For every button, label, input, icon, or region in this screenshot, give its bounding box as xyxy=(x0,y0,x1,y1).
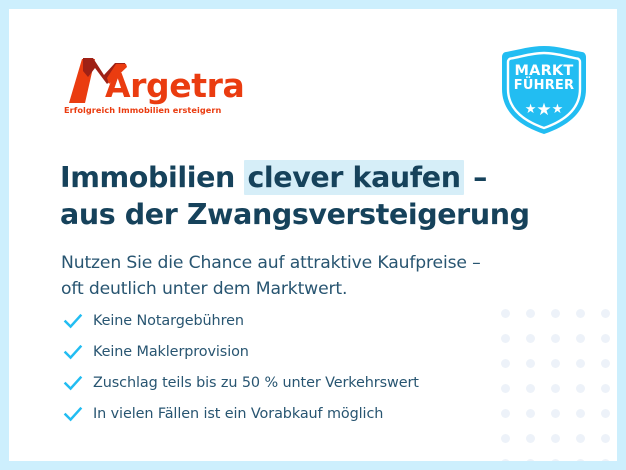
dot xyxy=(576,459,585,461)
check-icon xyxy=(62,403,84,425)
badge-stars: ★★★ xyxy=(496,101,592,118)
shield-icon xyxy=(496,44,592,136)
dot xyxy=(551,459,560,461)
dot xyxy=(601,409,610,418)
list-item: Zuschlag teils bis zu 50 % unter Verkehr… xyxy=(62,367,532,398)
dot xyxy=(601,359,610,368)
check-icon xyxy=(62,372,84,394)
subheadline: Nutzen Sie die Chance auf attraktive Kau… xyxy=(61,250,551,302)
dot xyxy=(551,384,560,393)
headline: Immobilien clever kaufen – aus der Zwang… xyxy=(60,160,530,233)
headline-line-2: aus der Zwangsversteigerung xyxy=(60,197,530,233)
market-leader-badge: MARKT FÜHRER ★★★ xyxy=(496,44,592,136)
headline-highlight: clever kaufen xyxy=(244,160,463,195)
dot xyxy=(576,334,585,343)
benefit-label: Keine Notargebühren xyxy=(93,313,244,329)
dot xyxy=(526,434,535,443)
dot xyxy=(601,434,610,443)
subheadline-line-1: Nutzen Sie die Chance auf attraktive Kau… xyxy=(61,250,551,276)
dot xyxy=(551,334,560,343)
dot xyxy=(576,409,585,418)
dot xyxy=(601,459,610,461)
subheadline-line-2: oft deutlich unter dem Marktwert. xyxy=(61,276,551,302)
benefit-label: In vielen Fällen ist ein Vorabkauf mögli… xyxy=(93,406,383,422)
list-item: In vielen Fällen ist ein Vorabkauf mögli… xyxy=(62,398,532,429)
dot xyxy=(551,434,560,443)
check-icon xyxy=(62,341,84,363)
headline-line-1: Immobilien clever kaufen – xyxy=(60,160,530,196)
dot xyxy=(601,309,610,318)
banner-card: Argetra Erfolgreich Immobilien ersteiger… xyxy=(9,9,617,461)
dot xyxy=(601,384,610,393)
logo-wordmark: Argetra xyxy=(105,69,244,102)
dot xyxy=(576,434,585,443)
benefit-list: Keine Notargebühren Keine Maklerprovisio… xyxy=(62,305,532,429)
list-item: Keine Notargebühren xyxy=(62,305,532,336)
dot xyxy=(551,409,560,418)
dot xyxy=(601,334,610,343)
dot xyxy=(576,309,585,318)
logo-tagline: Erfolgreich Immobilien ersteigern xyxy=(64,105,221,115)
dot xyxy=(576,384,585,393)
headline-line-1-post: – xyxy=(464,161,487,194)
dot xyxy=(551,309,560,318)
check-icon xyxy=(62,310,84,332)
dot xyxy=(576,359,585,368)
argetra-logo[interactable]: Argetra Erfolgreich Immobilien ersteiger… xyxy=(63,53,263,119)
promo-banner: Argetra Erfolgreich Immobilien ersteiger… xyxy=(0,0,626,470)
dot xyxy=(551,359,560,368)
headline-line-1-pre: Immobilien xyxy=(60,161,244,194)
benefit-label: Zuschlag teils bis zu 50 % unter Verkehr… xyxy=(93,375,419,391)
dot xyxy=(501,434,510,443)
dot xyxy=(501,459,510,461)
list-item: Keine Maklerprovision xyxy=(62,336,532,367)
benefit-label: Keine Maklerprovision xyxy=(93,344,249,360)
dot xyxy=(526,459,535,461)
